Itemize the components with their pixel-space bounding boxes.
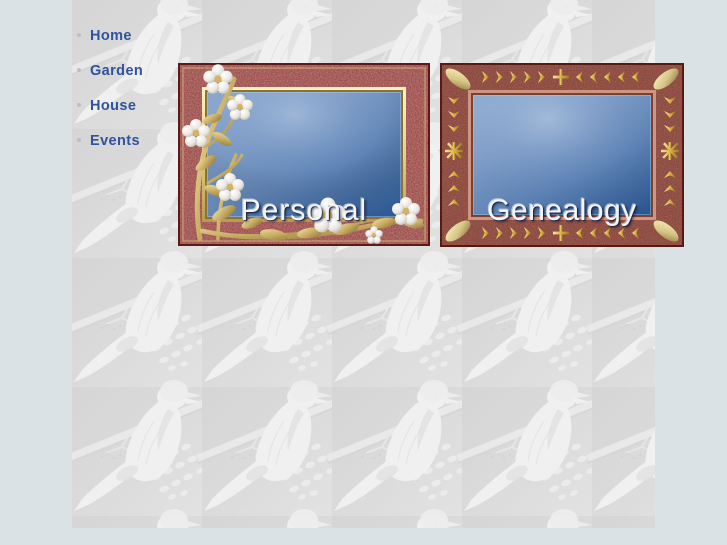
nav-link-events[interactable]: Events bbox=[90, 131, 140, 151]
bullet-icon bbox=[77, 103, 81, 107]
genealogy-frame-image bbox=[440, 63, 684, 247]
gallery-link-genealogy[interactable]: Genealogy bbox=[440, 63, 684, 247]
bullet-icon bbox=[77, 33, 81, 37]
gallery-link-personal[interactable]: Personal bbox=[178, 63, 430, 246]
bullet-icon bbox=[77, 68, 81, 72]
bullet-icon bbox=[77, 138, 81, 142]
nav-link-house[interactable]: House bbox=[90, 96, 136, 116]
nav-link-home[interactable]: Home bbox=[90, 26, 132, 46]
nav-link-garden[interactable]: Garden bbox=[90, 61, 143, 81]
nav-item-home[interactable]: Home bbox=[72, 26, 212, 61]
personal-frame-image bbox=[178, 63, 430, 246]
